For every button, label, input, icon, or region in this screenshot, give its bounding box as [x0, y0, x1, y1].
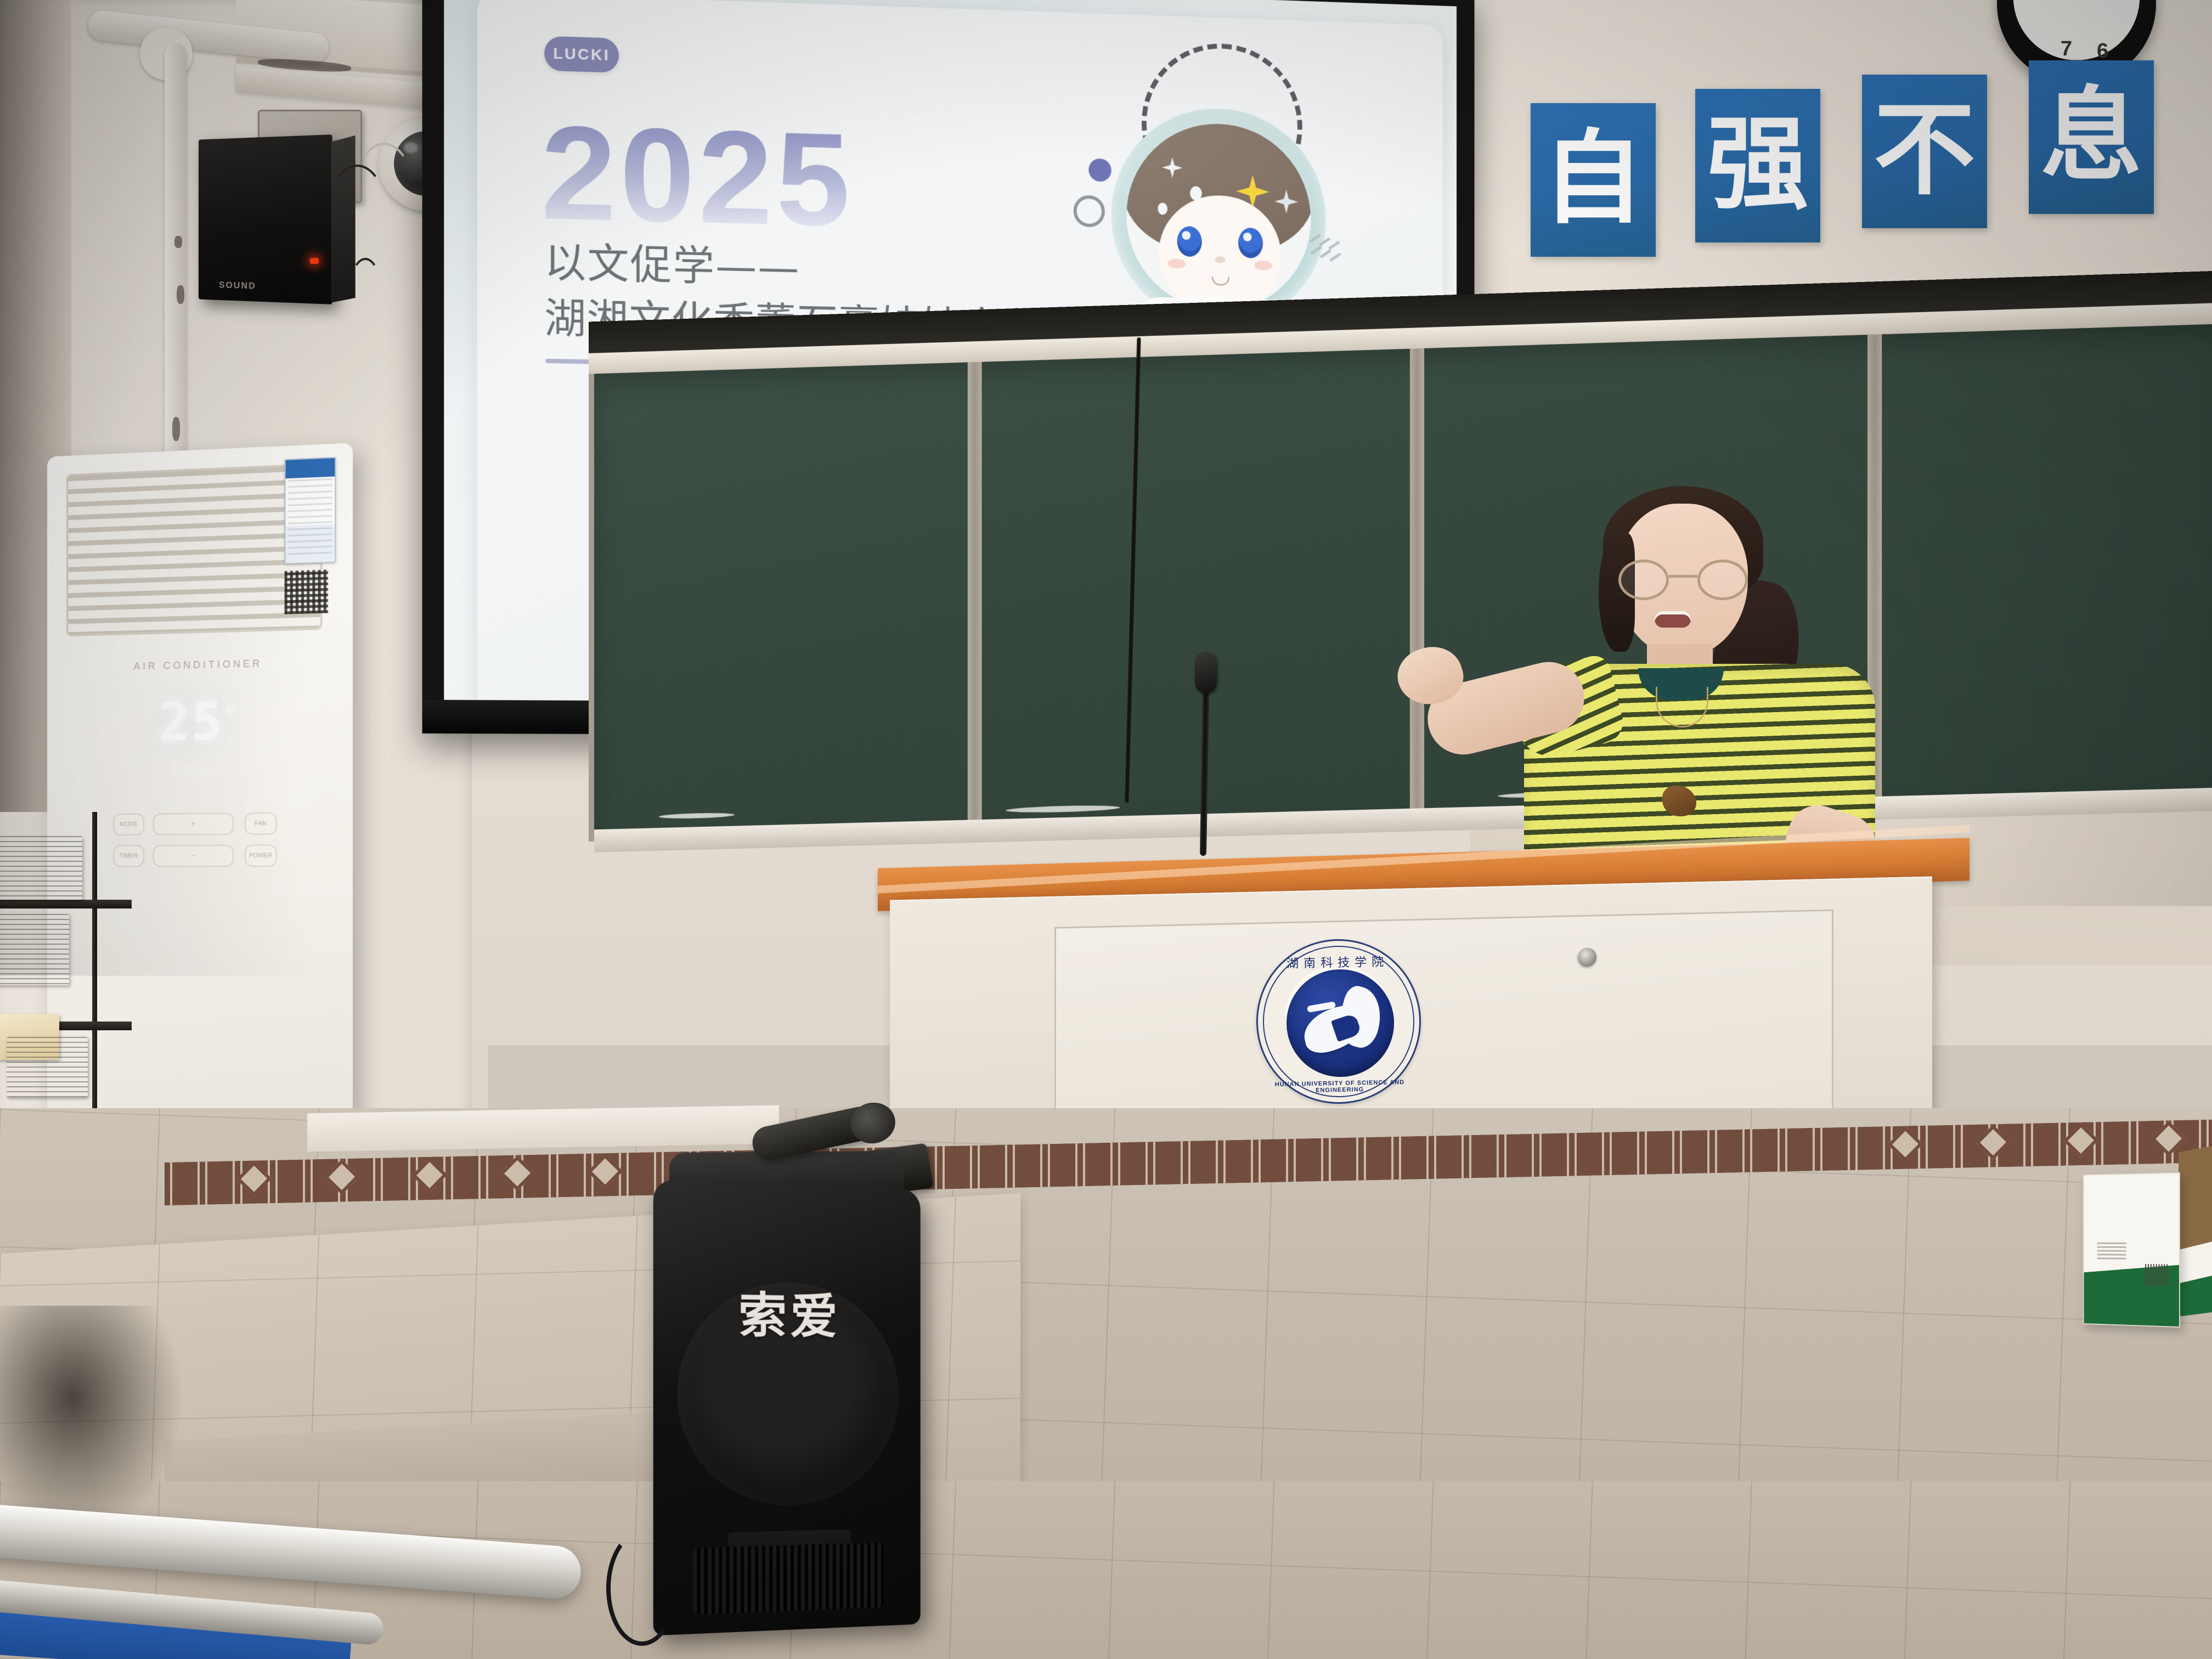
stacked-papers — [0, 836, 82, 900]
skirt-diamond-motif — [324, 1159, 359, 1195]
glasses-lens-right — [1697, 560, 1748, 600]
ac-button-up[interactable]: ＋ — [153, 813, 234, 836]
emblem-bird-icon — [1302, 988, 1378, 1060]
chalkboard-mullion — [968, 362, 982, 827]
skirt-diamond-motif — [411, 1157, 447, 1193]
skirt-diamond-motif — [587, 1154, 623, 1189]
rack-shelf — [0, 900, 132, 909]
slide-badge: LUCKI — [544, 36, 619, 73]
power-cable — [351, 143, 417, 263]
emblem-english-name: HUNAN UNIVERSITY OF SCIENCE AND ENGINEER… — [1259, 1079, 1420, 1094]
skirt-diamond-motif — [1887, 1126, 1923, 1162]
astronaut-nose — [1215, 256, 1226, 263]
clock-numeral: 6 — [2097, 39, 2108, 63]
floor-shadow — [0, 1306, 181, 1536]
box-print-mark — [2097, 1241, 2126, 1260]
air-conditioner-brand-label: AIR CONDITIONER — [47, 656, 353, 674]
clock-numeral: 7 — [2061, 37, 2072, 61]
temperature-value: 25 — [159, 691, 224, 753]
ac-button-fan[interactable]: FAN — [245, 812, 276, 835]
astronaut-mouth — [1211, 276, 1229, 286]
motion-lines-icon — [1308, 237, 1346, 270]
wall-speaker-brand-label: SOUND — [219, 280, 256, 292]
astronaut-visor — [1126, 121, 1311, 313]
chalk-dust — [659, 812, 735, 820]
speaker-cabinet: 索爱 — [653, 1180, 921, 1635]
banner-tile-2: 强 — [1695, 89, 1820, 242]
banner-tile-1: 自 — [1531, 103, 1656, 257]
wall-banner: 自 强 不 息 — [1531, 60, 2212, 247]
box-side-face — [2179, 1144, 2212, 1317]
speaker-cable — [349, 258, 382, 324]
skirt-diamond-motif — [1975, 1125, 2011, 1160]
energy-rating-label-sticker — [285, 457, 336, 565]
glasses-bridge — [1669, 575, 1697, 578]
skirt-diamond-motif — [499, 1155, 535, 1191]
speaker-bottom-grille — [693, 1543, 884, 1615]
astronaut-cheek-right — [1254, 261, 1272, 271]
cctv-lens-glint — [404, 142, 418, 153]
planet-dot-icon — [1088, 159, 1111, 182]
air-conditioner-button-panel[interactable]: MODE ＋ FAN TIMER － POWER — [113, 812, 276, 884]
air-conditioner-temperature-display: 25° — [47, 688, 353, 754]
speaker-brand-label: 索爱 — [653, 1274, 921, 1348]
wall-stain — [174, 236, 182, 248]
chalk-dust — [1006, 804, 1120, 813]
box-front-face — [2083, 1172, 2180, 1328]
degree-symbol: ° — [224, 704, 237, 727]
banner-tile-4: 息 — [2029, 60, 2154, 214]
ac-button-down[interactable]: － — [153, 845, 234, 867]
skirt-diamond-motif — [236, 1161, 272, 1197]
sparkle-dot — [1158, 202, 1167, 215]
presenter-mouth — [1655, 611, 1691, 628]
classroom-scene: SOUND LUCKI 2025 以文促学—— 湖湘文化香薰石膏娃娃文创 — [0, 0, 2212, 1659]
slide-title-line-1: 以文促学—— — [544, 229, 800, 295]
energy-label-text-rows — [288, 478, 332, 558]
wall-stain — [172, 417, 180, 441]
astronaut-eye-left — [1177, 226, 1202, 257]
astronaut-eye-right — [1238, 228, 1263, 258]
box-barcode — [2145, 1264, 2169, 1286]
slide-year-text: 2025 — [541, 112, 854, 240]
gooseneck-microphone-head — [1195, 652, 1217, 693]
portable-pa-speaker: 索爱 — [653, 1145, 936, 1641]
cardboard-box — [2083, 1139, 2212, 1330]
astronaut-cheek-left — [1167, 258, 1186, 269]
qr-code-sticker — [285, 569, 328, 614]
stacked-papers — [0, 914, 69, 985]
wall-stain — [177, 285, 184, 304]
stacked-papers — [7, 1037, 88, 1097]
ac-button-power[interactable]: POWER — [245, 844, 276, 866]
emblem-chinese-name: 湖南科技学院 — [1257, 951, 1419, 972]
ring-circle-icon — [1074, 195, 1105, 227]
wall-mounted-speaker: SOUND — [199, 134, 332, 304]
glasses-lens-left — [1618, 560, 1669, 600]
speaker-power-cord — [606, 1531, 678, 1646]
air-conditioner-mode-display: COOL — [47, 762, 353, 782]
presenter-glasses — [1616, 560, 1750, 601]
banner-tile-3: 不 — [1862, 75, 1987, 228]
wall-speaker-power-led — [310, 258, 319, 264]
